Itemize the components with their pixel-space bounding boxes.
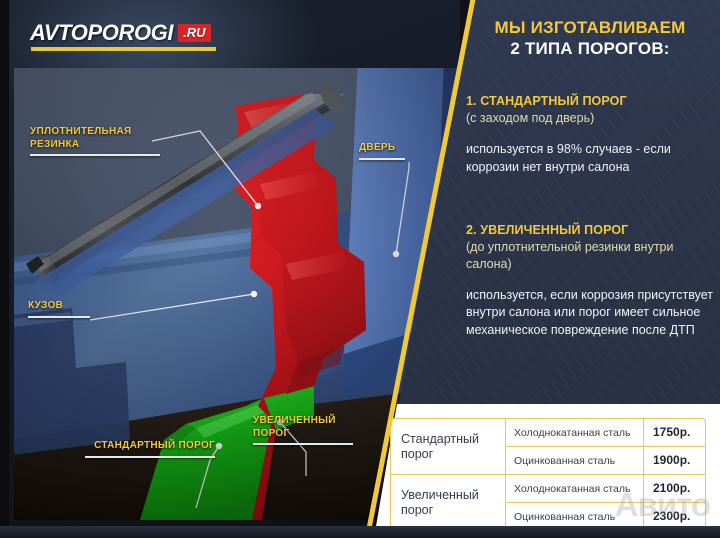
table-row: Оцинкованная сталь 1900р. xyxy=(506,446,705,474)
poster-root: AVTOPOROGI .RU xyxy=(0,0,720,538)
section-standard-subtitle: (с заходом под дверь) xyxy=(466,110,716,127)
diagram-label-door-text: ДВЕРЬ xyxy=(359,142,395,153)
table-group-name: Стандартный порог xyxy=(391,419,506,474)
diagram-label-seal: УПЛОТНИТЕЛЬНАЯ РЕЗИНКА xyxy=(30,126,160,156)
table-cell-material: Холоднокатанная сталь xyxy=(506,427,643,439)
table-row: Холоднокатанная сталь 1750р. xyxy=(506,419,705,446)
left-edge-border xyxy=(0,0,9,538)
diagram-label-enlarged: УВЕЛИЧЕННЫЙ ПОРОГ xyxy=(253,415,353,445)
table-row: Холоднокатанная сталь 2100р. xyxy=(506,475,705,502)
section-enlarged: 2. УВЕЛИЧЕННЫЙ ПОРОГ (до уплотнительной … xyxy=(466,222,716,340)
logo-underline-bar xyxy=(31,47,216,51)
table-group-rows: Холоднокатанная сталь 1750р. Оцинкованна… xyxy=(506,419,705,474)
label-underline xyxy=(253,443,353,445)
table-cell-material: Оцинкованная сталь xyxy=(506,455,643,467)
label-underline xyxy=(85,456,215,458)
diagram-label-seal-text: УПЛОТНИТЕЛЬНАЯ РЕЗИНКА xyxy=(30,126,132,150)
logo-tld-badge: .RU xyxy=(178,24,211,42)
table-group-standard: Стандартный порог Холоднокатанная сталь … xyxy=(391,419,705,474)
diagram-label-standard: СТАНДАРТНЫЙ ПОРОГ xyxy=(85,440,215,458)
section-enlarged-title: 2. УВЕЛИЧЕННЫЙ ПОРОГ xyxy=(466,222,716,239)
section-standard-body: используется в 98% случаев - если корроз… xyxy=(466,141,716,177)
section-enlarged-body: используется, если коррозия присутствует… xyxy=(466,287,716,340)
label-underline xyxy=(28,316,90,318)
poster-headline: МЫ ИЗГОТАВЛИВАЕМ 2 ТИПА ПОРОГОВ: xyxy=(470,18,710,59)
bottom-edge-strip xyxy=(0,526,720,538)
site-logo[interactable]: AVTOPOROGI .RU xyxy=(30,22,216,51)
label-underline xyxy=(30,154,160,156)
section-enlarged-subtitle: (до уплотнительной резинки внутри салона… xyxy=(466,239,716,273)
section-standard-title: 1. СТАНДАРТНЫЙ ПОРОГ xyxy=(466,93,716,110)
table-group-rows: Холоднокатанная сталь 2100р. Оцинкованна… xyxy=(506,475,705,530)
diagram-label-body: КУЗОВ xyxy=(28,300,90,318)
table-cell-price: 1750р. xyxy=(643,419,705,446)
diagram-label-standard-text: СТАНДАРТНЫЙ ПОРОГ xyxy=(94,440,215,451)
price-table: Стандартный порог Холоднокатанная сталь … xyxy=(390,418,706,531)
logo-row: AVTOPOROGI .RU xyxy=(30,22,216,44)
headline-line-1: МЫ ИЗГОТАВЛИВАЕМ xyxy=(470,18,710,39)
table-cell-material: Холоднокатанная сталь xyxy=(506,483,643,495)
section-standard: 1. СТАНДАРТНЫЙ ПОРОГ (с заходом под двер… xyxy=(466,93,716,176)
diagram-label-door: ДВЕРЬ xyxy=(359,142,405,160)
table-group-enlarged: Увеличенный порог Холоднокатанная сталь … xyxy=(391,474,705,530)
headline-line-2: 2 ТИПА ПОРОГОВ: xyxy=(470,39,710,60)
diagram-label-body-text: КУЗОВ xyxy=(28,300,63,311)
table-cell-material: Оцинкованная сталь xyxy=(506,511,643,523)
table-cell-price: 1900р. xyxy=(643,447,705,474)
table-group-name: Увеличенный порог xyxy=(391,475,506,530)
table-cell-price: 2100р. xyxy=(643,475,705,502)
diagram-label-enlarged-text: УВЕЛИЧЕННЫЙ ПОРОГ xyxy=(253,415,336,439)
logo-brand-text: AVTOPOROGI xyxy=(30,22,173,44)
label-underline xyxy=(359,158,405,160)
